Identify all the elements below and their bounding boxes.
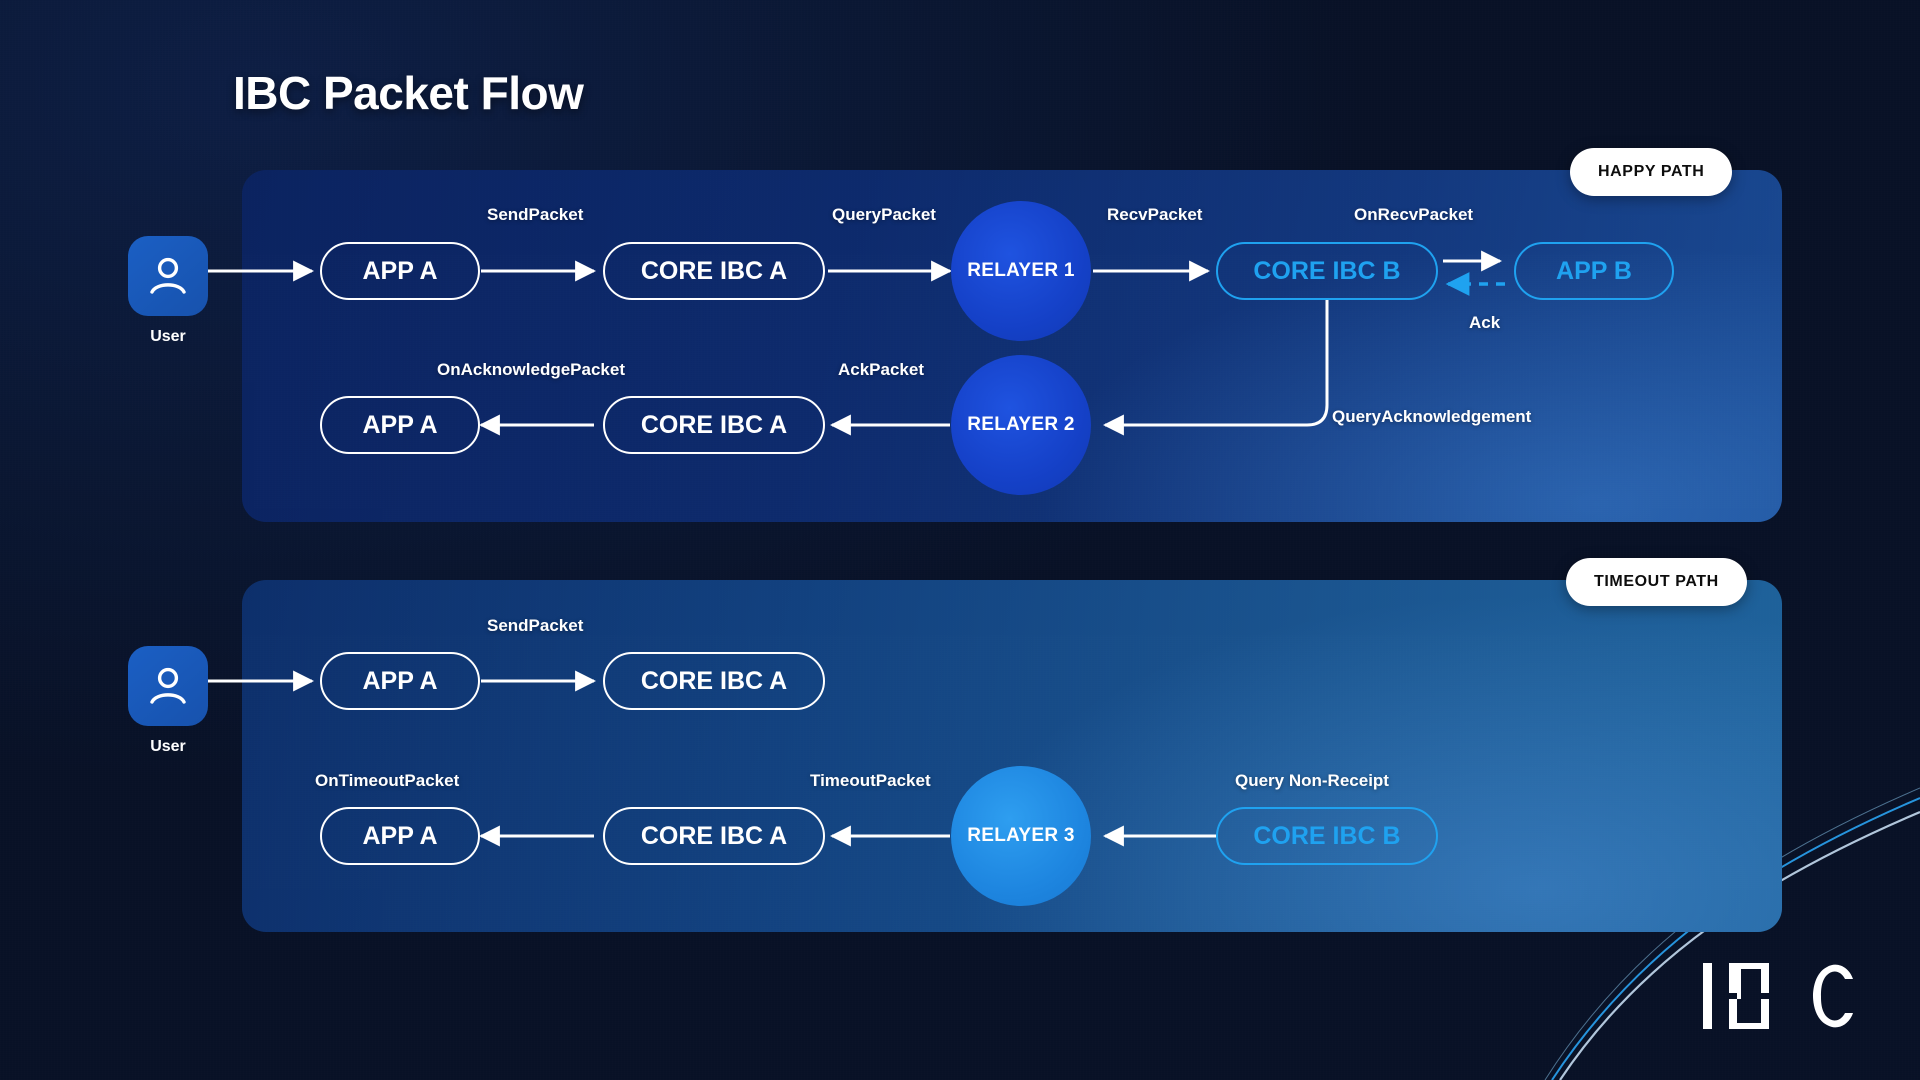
node-label: RELAYER 3	[967, 825, 1075, 847]
node-label: RELAYER 2	[967, 414, 1075, 436]
node-label: CORE IBC A	[641, 257, 787, 286]
node-label: APP A	[362, 411, 437, 440]
page-title: IBC Packet Flow	[233, 66, 583, 120]
node-app-a-happy-row2: APP A	[320, 396, 480, 454]
user-happy-path: User	[123, 236, 213, 346]
user-label: User	[123, 328, 213, 346]
node-label: CORE IBC A	[641, 822, 787, 851]
node-app-b-happy: APP B	[1514, 242, 1674, 300]
node-core-ibc-b-timeout: CORE IBC B	[1216, 807, 1438, 865]
node-app-a-timeout-row1: APP A	[320, 652, 480, 710]
user-icon	[128, 646, 208, 726]
node-label: CORE IBC B	[1253, 257, 1400, 286]
node-relayer-1: RELAYER 1	[951, 201, 1091, 341]
node-label: CORE IBC A	[641, 667, 787, 696]
ibc-logo	[1703, 963, 1863, 1034]
ibc-logo-mark	[1703, 963, 1863, 1029]
happy-path-badge: HAPPY PATH	[1570, 148, 1732, 196]
node-label: APP B	[1556, 257, 1632, 286]
edge-label-queryacknowledgement: QueryAcknowledgement	[1332, 407, 1531, 427]
edge-label-query-non-receipt: Query Non-Receipt	[1235, 771, 1389, 791]
edge-label-sendpacket-timeout: SendPacket	[487, 616, 583, 636]
node-label: APP A	[362, 822, 437, 851]
node-core-ibc-b-happy: CORE IBC B	[1216, 242, 1438, 300]
user-glyph	[145, 664, 191, 708]
node-label: RELAYER 1	[967, 260, 1075, 282]
user-timeout-path: User	[123, 646, 213, 756]
edge-label-onacknowledgepacket: OnAcknowledgePacket	[437, 360, 625, 380]
user-icon	[128, 236, 208, 316]
edge-label-ontimeoutpacket: OnTimeoutPacket	[315, 771, 459, 791]
node-app-a-timeout-row2: APP A	[320, 807, 480, 865]
node-core-ibc-a-timeout-row1: CORE IBC A	[603, 652, 825, 710]
edge-label-timeoutpacket: TimeoutPacket	[810, 771, 931, 791]
timeout-path-badge: TIMEOUT PATH	[1566, 558, 1747, 606]
node-label: CORE IBC B	[1253, 822, 1400, 851]
node-app-a-happy-row1: APP A	[320, 242, 480, 300]
node-relayer-2: RELAYER 2	[951, 355, 1091, 495]
edge-label-sendpacket: SendPacket	[487, 205, 583, 225]
node-core-ibc-a-happy-row1: CORE IBC A	[603, 242, 825, 300]
node-core-ibc-a-timeout-row2: CORE IBC A	[603, 807, 825, 865]
edge-label-onrecvpacket: OnRecvPacket	[1354, 205, 1473, 225]
edge-label-ack: Ack	[1469, 313, 1500, 333]
edge-label-querypacket: QueryPacket	[832, 205, 936, 225]
node-label: APP A	[362, 257, 437, 286]
user-glyph	[145, 254, 191, 298]
edge-label-recvpacket: RecvPacket	[1107, 205, 1202, 225]
node-label: APP A	[362, 667, 437, 696]
node-relayer-3: RELAYER 3	[951, 766, 1091, 906]
edge-label-ackpacket: AckPacket	[838, 360, 924, 380]
node-core-ibc-a-happy-row2: CORE IBC A	[603, 396, 825, 454]
node-label: CORE IBC A	[641, 411, 787, 440]
user-label: User	[123, 738, 213, 756]
